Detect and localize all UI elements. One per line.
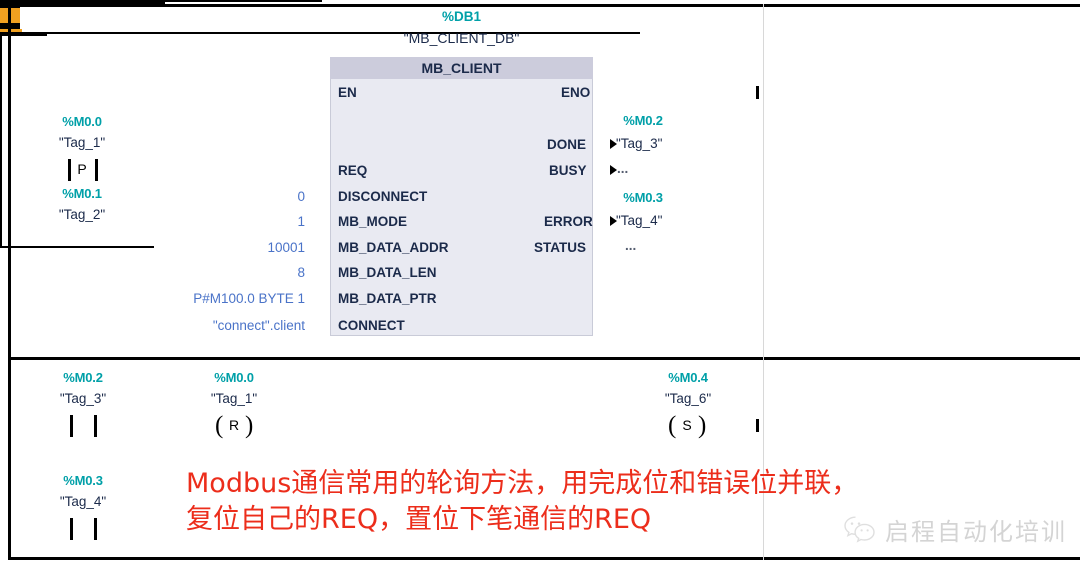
input-pin-mb-data-ptr: MB_DATA_PTR (338, 291, 437, 306)
p-contact-right-bar[interactable] (95, 159, 98, 181)
set-coil-right-paren[interactable]: ) (698, 413, 706, 438)
arrow-busy (610, 165, 617, 175)
output-pin-busy: BUSY (549, 163, 587, 178)
output-tag-done[interactable]: "Tag_3" (616, 136, 676, 151)
rung2-branch-right-vertical (0, 141, 2, 246)
network-divider-top (8, 4, 1080, 7)
input-value-mb-data-ptr[interactable]: P#M100.0 BYTE 1 (150, 291, 305, 306)
output-tag-busy: ... (617, 161, 628, 176)
watermark-text: 启程自动化培训 (885, 512, 1067, 547)
output-tag-status: ... (625, 238, 636, 253)
reset-coil-right-paren[interactable]: ) (245, 413, 253, 438)
rung2-contact-b-address: %M0.3 (45, 473, 121, 488)
annotation-text: Modbus通信常用的轮询方法，用完成位和错误位并联， 复位自己的REQ，置位下… (186, 466, 858, 537)
output-address-error: %M0.3 (605, 190, 681, 205)
function-block-title: MB_CLIENT (330, 60, 593, 76)
rung1-contact-address-bottom: %M0.1 (44, 186, 120, 201)
rung1-contact-tag-top[interactable]: "Tag_1" (44, 135, 120, 150)
rung2-branch-bottom-line (0, 246, 154, 248)
watermark: 启程自动化培训 (843, 512, 1067, 547)
input-value-disconnect[interactable]: 0 (190, 189, 305, 204)
input-pin-connect: CONNECT (338, 318, 405, 333)
set-coil-left-paren[interactable]: ( (668, 413, 676, 438)
reset-coil-tag[interactable]: "Tag_1" (196, 391, 272, 406)
reset-coil-symbol: R (224, 417, 244, 433)
output-pin-done: DONE (547, 137, 586, 152)
db-name-label: "MB_CLIENT_DB" (330, 30, 593, 46)
input-value-mb-data-len[interactable]: 8 (190, 265, 305, 280)
rung2-contact-a-right-bar[interactable] (94, 415, 97, 437)
output-address-done: %M0.2 (605, 113, 681, 128)
rung2-branch-left-vertical (0, 36, 2, 141)
network-divider-bottom (8, 557, 1080, 560)
p-contact-symbol: P (73, 161, 91, 177)
input-pin-mb-data-len: MB_DATA_LEN (338, 265, 437, 280)
annotation-line-1: Modbus通信常用的轮询方法，用完成位和错误位并联， (186, 466, 858, 502)
set-coil-symbol: S (677, 417, 697, 433)
input-value-mb-mode[interactable]: 1 (190, 214, 305, 229)
en-pin-label: EN (338, 85, 357, 100)
function-block-header: MB_CLIENT (330, 57, 593, 79)
output-pin-error: ERROR (544, 214, 593, 229)
reset-coil-left-paren[interactable]: ( (215, 413, 223, 438)
set-coil-tag[interactable]: "Tag_6" (650, 391, 726, 406)
db-address-label: %DB1 (330, 9, 593, 24)
p-contact-left-bar[interactable] (68, 159, 71, 181)
rung2-terminator (756, 419, 759, 432)
eno-rung-terminator (756, 86, 759, 99)
eno-pin-label: ENO (561, 85, 590, 100)
input-value-mb-data-addr[interactable]: 10001 (190, 240, 305, 255)
wechat-icon (843, 515, 877, 545)
rung2-contact-a-left-bar[interactable] (70, 415, 73, 437)
rung2-contact-b-tag[interactable]: "Tag_4" (45, 494, 121, 509)
input-pin-mb-data-addr: MB_DATA_ADDR (338, 240, 449, 255)
input-pin-req: REQ (338, 163, 367, 178)
annotation-line-2: 复位自己的REQ，置位下笔通信的REQ (186, 502, 858, 538)
network-divider-rung2 (8, 357, 1080, 360)
set-coil-address: %M0.4 (650, 370, 726, 385)
rung2-contact-b-right-bar[interactable] (94, 518, 97, 540)
rung1-contact-address-top: %M0.0 (44, 114, 120, 129)
input-pin-mb-mode: MB_MODE (338, 214, 407, 229)
reset-coil-address: %M0.0 (196, 370, 272, 385)
rung1-contact-tag-bottom[interactable]: "Tag_2" (44, 207, 120, 222)
input-pin-disconnect: DISCONNECT (338, 189, 427, 204)
input-value-connect[interactable]: "connect".client (150, 318, 305, 333)
rung2-contact-a-address: %M0.2 (45, 370, 121, 385)
rung2-contact-a-tag[interactable]: "Tag_3" (45, 391, 121, 406)
output-tag-error[interactable]: "Tag_4" (616, 213, 676, 228)
rung2-contact-b-left-bar[interactable] (70, 518, 73, 540)
output-pin-status: STATUS (534, 240, 586, 255)
left-power-rail (8, 4, 11, 560)
plc-ladder-diagram-screenshot: MB_CLIENT %DB1 "MB_CLIENT_DB" EN ENO REQ… (0, 0, 1080, 570)
